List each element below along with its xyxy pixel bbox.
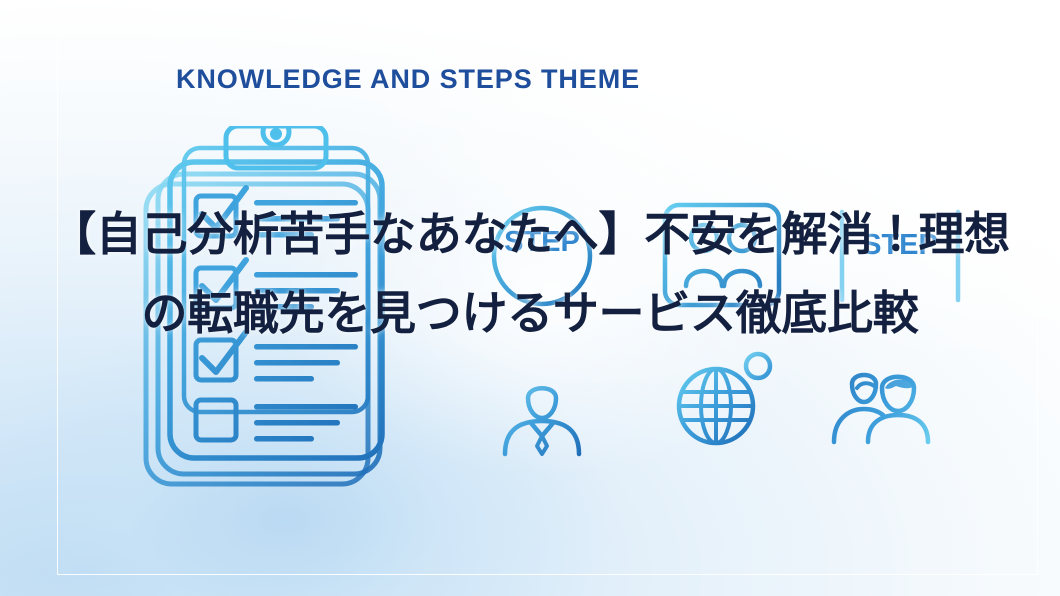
page-title: 【自己分析苦手なあなたへ】不安を解消！理想の転職先を見つけるサービス徹底比較	[50, 195, 1010, 353]
slide-canvas: STEP	[0, 0, 1060, 596]
eyebrow-heading-text: KNOWLEDGE AND STEPS THEME	[176, 64, 640, 95]
eyebrow-heading: KNOWLEDGE AND STEPS THEME	[0, 64, 1060, 95]
